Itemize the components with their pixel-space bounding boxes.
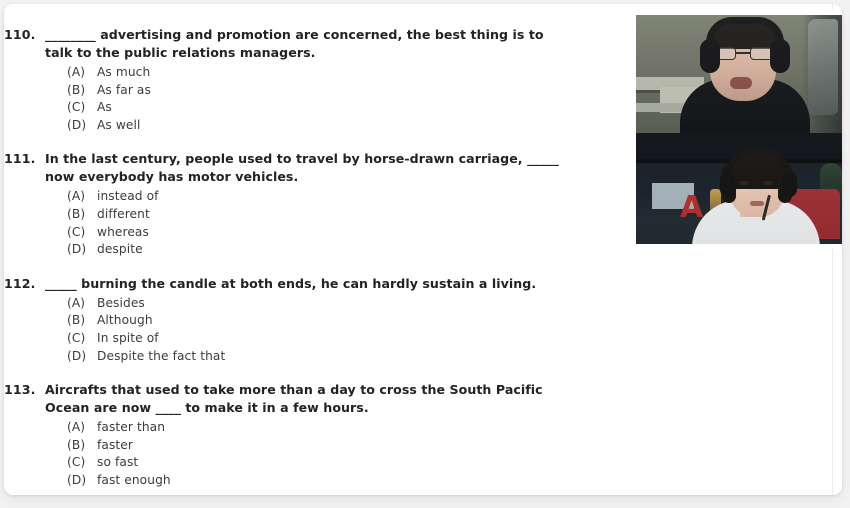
webcam-feed-top[interactable] (636, 15, 842, 133)
option-text: whereas (97, 225, 149, 239)
option-text: instead of (97, 189, 159, 203)
option-text: Although (97, 313, 153, 327)
option-d[interactable]: (D) despite (67, 241, 604, 259)
webcam-stack[interactable]: A (636, 15, 842, 244)
option-text: In spite of (97, 331, 159, 345)
option-a[interactable]: (A) instead of (67, 188, 604, 206)
option-text: despite (97, 242, 143, 256)
question-block: 111. In the last century, people used to… (4, 150, 604, 258)
headphone-cup-left (700, 39, 720, 73)
question-number: 110. (4, 26, 38, 44)
question-number: 111. (4, 150, 38, 168)
headphone-band (706, 17, 784, 43)
option-letter: (D) (67, 117, 86, 135)
question-stem: _____ burning the candle at both ends, h… (45, 275, 565, 293)
option-text: As far as (97, 83, 151, 97)
question-stem: In the last century, people used to trav… (45, 150, 565, 186)
question-block: 113. Aircrafts that used to take more th… (4, 381, 604, 489)
option-letter: (B) (67, 312, 85, 330)
option-d[interactable]: (D) Despite the fact that (67, 348, 604, 366)
option-text: faster (97, 438, 133, 452)
option-c[interactable]: (C) whereas (67, 224, 604, 242)
option-text: Besides (97, 296, 145, 310)
option-c[interactable]: (C) As (67, 99, 604, 117)
option-letter: (D) (67, 472, 86, 490)
option-text: fast enough (97, 473, 171, 487)
question-number: 112. (4, 275, 38, 293)
option-b[interactable]: (B) Although (67, 312, 604, 330)
option-d[interactable]: (D) fast enough (67, 472, 604, 490)
option-b[interactable]: (B) different (67, 206, 604, 224)
option-letter: (D) (67, 348, 86, 366)
chair (808, 19, 838, 115)
option-list: (A) Besides (B) Although (C) In spite of… (45, 295, 604, 365)
slide-card: 110. ________ advertising and promotion … (4, 4, 842, 495)
option-text: As (97, 100, 112, 114)
question-block: 110. ________ advertising and promotion … (4, 26, 604, 134)
question-stem: Aircrafts that used to take more than a … (45, 381, 565, 417)
option-list: (A) As much (B) As far as (C) As (D) As … (45, 64, 604, 134)
option-a[interactable]: (A) As much (67, 64, 604, 82)
option-letter: (A) (67, 295, 85, 313)
option-text: different (97, 207, 150, 221)
letter-a-prop: A (680, 195, 698, 221)
option-b[interactable]: (B) As far as (67, 82, 604, 100)
option-letter: (A) (67, 64, 85, 82)
option-letter: (B) (67, 206, 85, 224)
option-d[interactable]: (D) As well (67, 117, 604, 135)
option-a[interactable]: (A) faster than (67, 419, 604, 437)
presenter-mouth (750, 201, 764, 206)
option-letter: (C) (67, 454, 85, 472)
option-letter: (C) (67, 330, 85, 348)
option-text: so fast (97, 455, 138, 469)
option-letter: (C) (67, 99, 85, 117)
question-number: 113. (4, 381, 38, 399)
presenter-mouth (730, 77, 752, 89)
glasses-bridge (736, 52, 750, 54)
option-letter: (B) (67, 437, 85, 455)
option-list: (A) faster than (B) faster (C) so fast (… (45, 419, 604, 489)
option-c[interactable]: (C) In spite of (67, 330, 604, 348)
option-letter: (A) (67, 188, 85, 206)
option-text: faster than (97, 420, 165, 434)
headphone-cup-right (770, 39, 790, 73)
option-letter: (A) (67, 419, 85, 437)
question-block: 112. _____ burning the candle at both en… (4, 275, 604, 365)
presenter-eye-right (764, 181, 772, 185)
option-text: As well (97, 118, 141, 132)
option-text: Despite the fact that (97, 349, 225, 363)
option-c[interactable]: (C) so fast (67, 454, 604, 472)
option-letter: (B) (67, 82, 85, 100)
option-letter: (C) (67, 224, 85, 242)
option-list: (A) instead of (B) different (C) whereas… (45, 188, 604, 258)
option-a[interactable]: (A) Besides (67, 295, 604, 313)
question-stem: ________ advertising and promotion are c… (45, 26, 565, 62)
option-text: As much (97, 65, 150, 79)
question-column: 110. ________ advertising and promotion … (4, 4, 604, 495)
webcam-panel[interactable]: A (631, 10, 842, 248)
webcam-feed-bottom[interactable]: A (636, 133, 842, 244)
presenter-eye-left (740, 181, 748, 185)
option-b[interactable]: (B) faster (67, 437, 604, 455)
option-letter: (D) (67, 241, 86, 259)
